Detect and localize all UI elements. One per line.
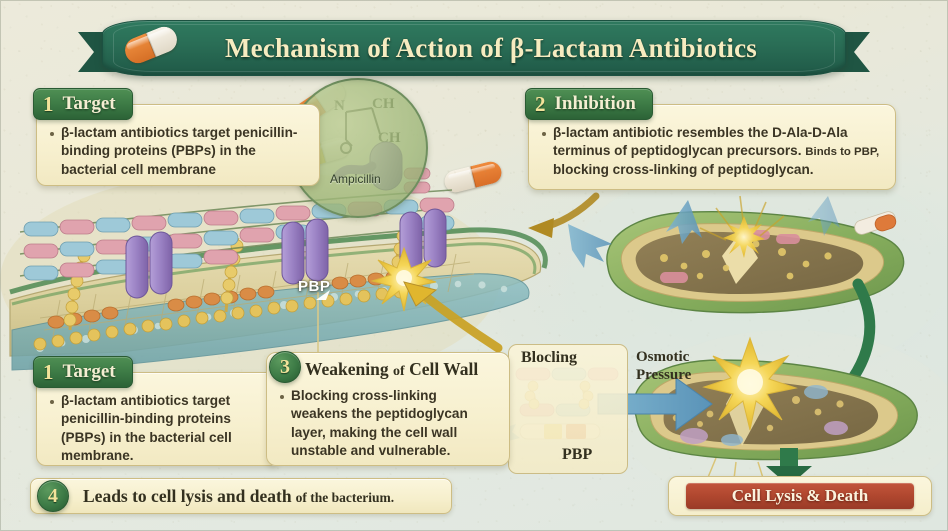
step-2-number: 2: [535, 94, 546, 115]
step-3-label-a: Weakening: [305, 359, 389, 379]
step-bar-4-lysis[interactable]: 4 Leads to cell lysis and death of the b…: [30, 478, 452, 514]
step-2-label: Inhibition: [555, 93, 636, 115]
cell-lysis-death-badge: Cell Lysis & Death: [686, 483, 914, 509]
step-1-duplicate-tab: 1 Target: [33, 356, 133, 388]
bullet-dot: [542, 132, 546, 136]
step-2-tab: 2 Inhibition: [525, 88, 653, 120]
ribbon-body: Mechanism of Action of β-Lactam Antibiot…: [102, 20, 846, 76]
bullet-dot: [50, 400, 54, 404]
bullet-dot: [280, 395, 284, 399]
step-4-text-small: of the bacterium.: [296, 490, 395, 505]
step-2-text: β-lactam antibiotic resembles the D-Ala-…: [553, 124, 883, 179]
step-3-text: Blocking cross-linking weakens the pepti…: [291, 387, 497, 460]
step-3-label-of: of: [393, 364, 405, 379]
step-4-text-big: Leads to cell lysis and death: [83, 486, 292, 506]
ampicillin-label: Ampicillin: [330, 172, 381, 186]
step-1-duplicate-label: Target: [63, 361, 116, 383]
step-4-badge: 4: [37, 480, 69, 512]
step-3-badge: 3: [269, 351, 301, 383]
step-2-text-main: β-lactam antibiotic resembles the D-Ala-…: [553, 125, 848, 158]
step-2-text-small: Binds to PBP,: [805, 146, 879, 158]
bullet-dot: [50, 132, 54, 136]
step-1-duplicate-text: β-lactam antibiotics target penicillin-b…: [61, 392, 267, 465]
step-card-2-inhibition[interactable]: 2 Inhibition β-lactam antibiotic resembl…: [528, 104, 896, 190]
step-3-label: Weakening of Cell Wall: [305, 359, 478, 380]
step-1-text: β-lactam antibiotics target penicillin-b…: [61, 124, 307, 179]
step-2-text-tail: blocking cross-linking of peptidoglycan.: [553, 162, 814, 177]
step-3-number: 3: [280, 357, 290, 377]
step-card-1-target[interactable]: 1 Target β-lactam antibiotics target pen…: [36, 104, 320, 186]
step-card-3-weakening[interactable]: 3 Weakening of Cell Wall Blocking cross-…: [266, 352, 510, 466]
step-1-number: 1: [43, 94, 54, 115]
step-4-text: Leads to cell lysis and death of the bac…: [83, 486, 394, 507]
step-1-label: Target: [63, 93, 116, 115]
step-1-duplicate-number: 1: [43, 362, 54, 383]
infographic-canvas: N CH CH Ampicillin Mechanism of Action o…: [0, 0, 948, 531]
step-3-label-b: Cell Wall: [409, 359, 478, 379]
step-4-number: 4: [48, 486, 58, 506]
step-1-tab: 1 Target: [33, 88, 133, 120]
page-title: Mechanism of Action of β-Lactam Antibiot…: [191, 33, 757, 64]
outcome-label: Cell Lysis & Death: [732, 486, 868, 506]
title-ribbon: Mechanism of Action of β-Lactam Antibiot…: [78, 14, 870, 80]
step-card-1-target-duplicate[interactable]: 1 Target β-lactam antibiotics target pen…: [36, 372, 280, 466]
outcome-panel[interactable]: Cell Lysis & Death: [668, 476, 932, 516]
